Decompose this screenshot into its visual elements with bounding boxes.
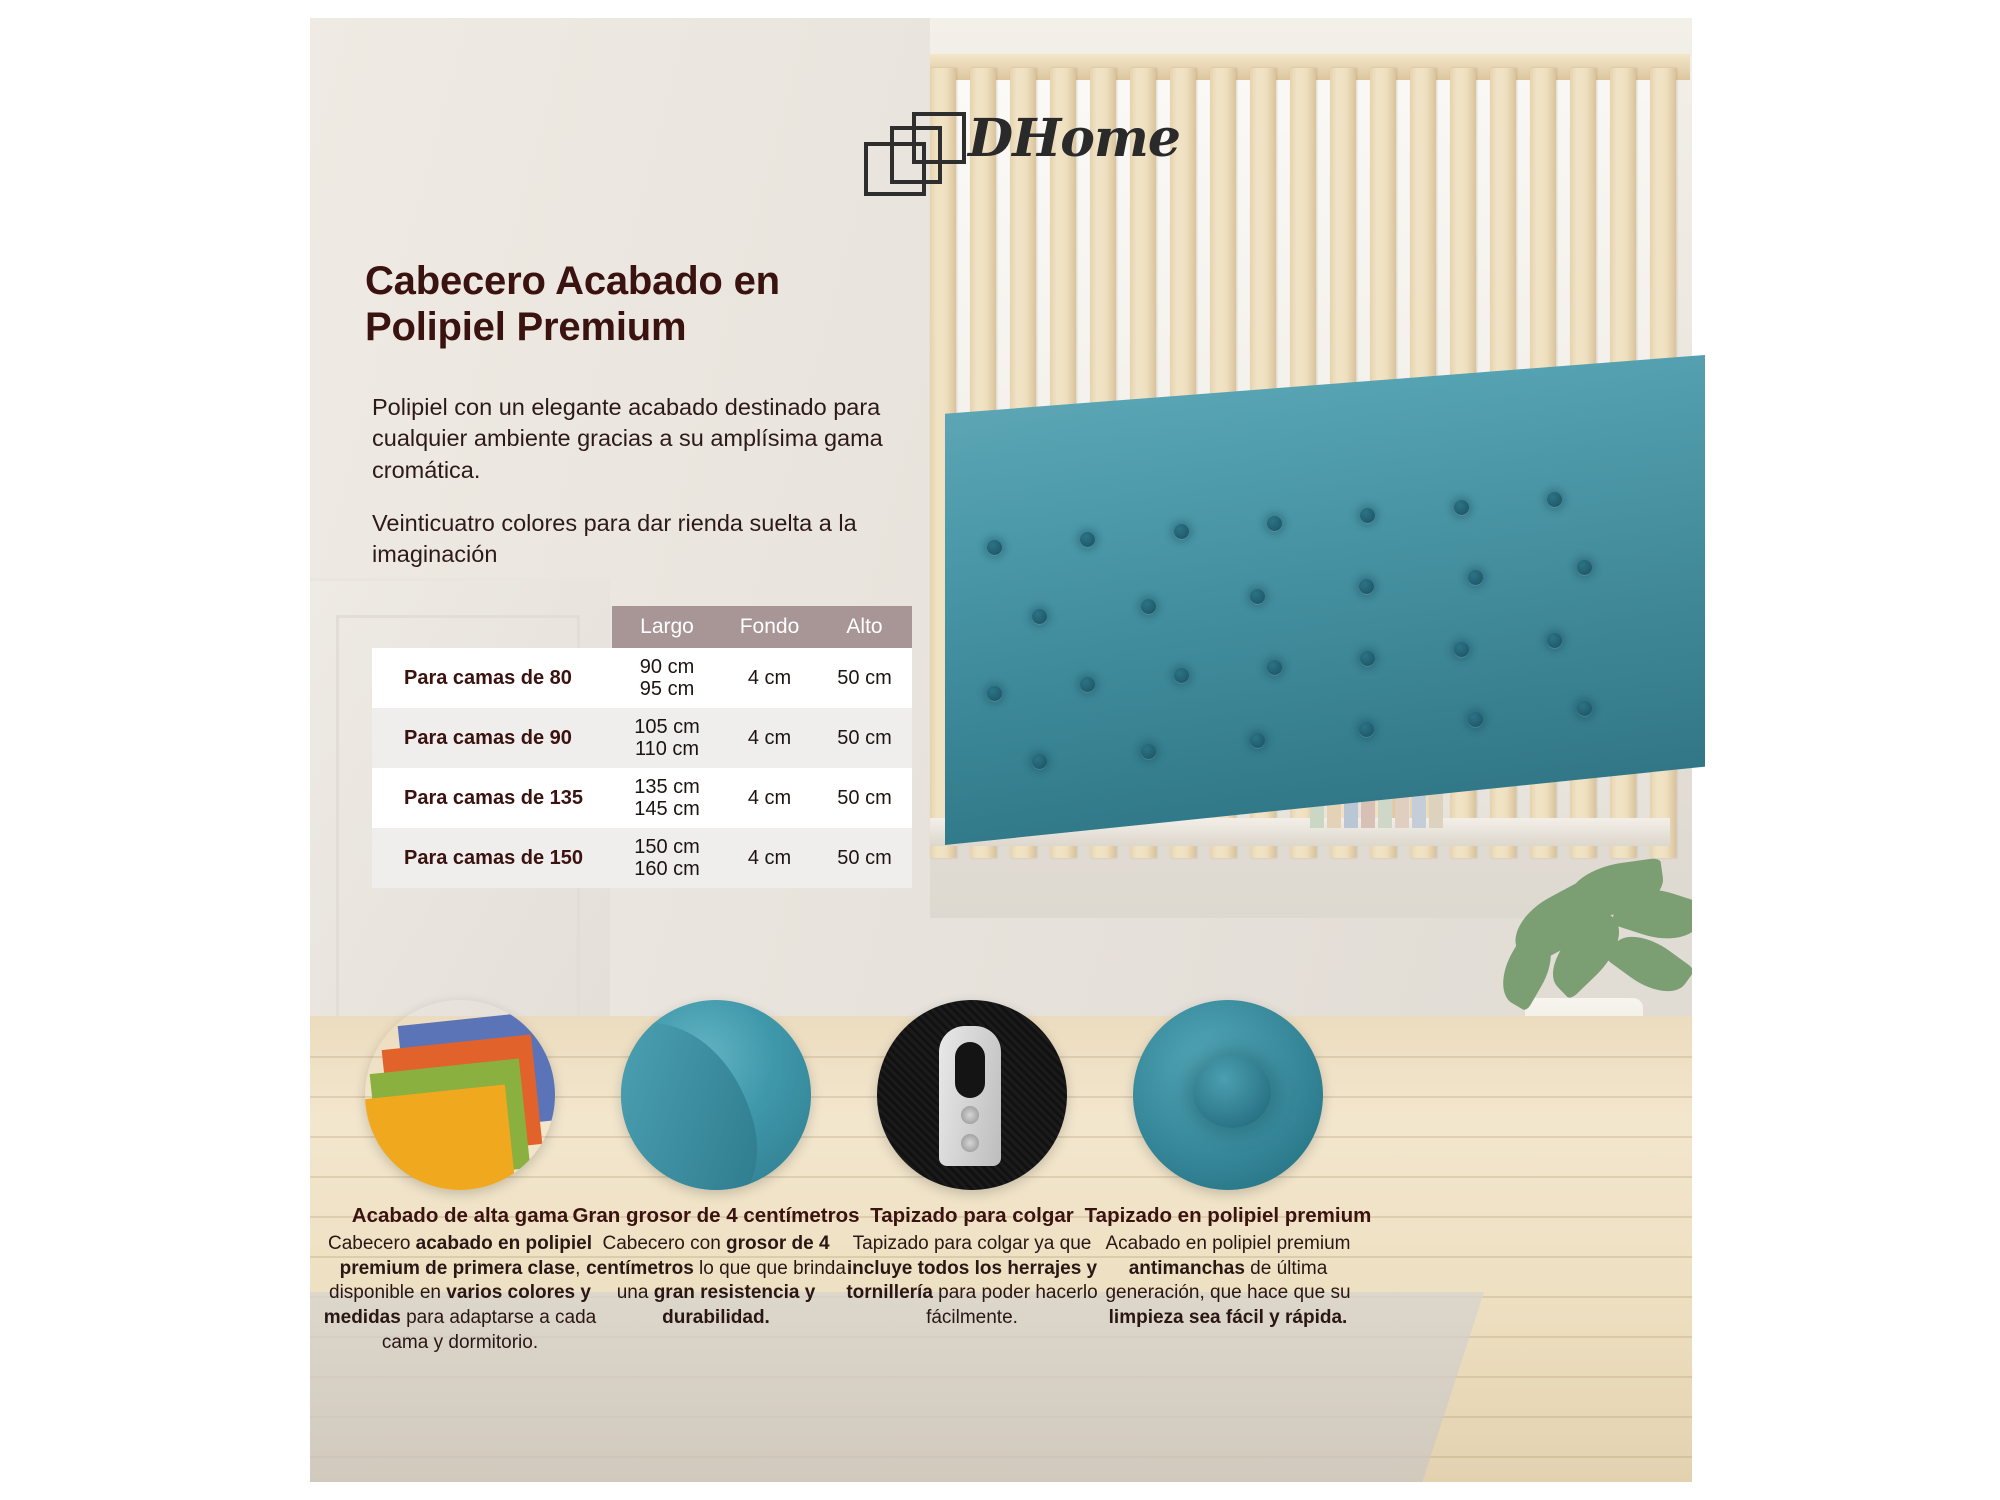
tuft-button [987,540,1002,555]
tuft-button [1454,500,1469,515]
logo-square-3 [912,112,966,164]
product-headboard-image [945,355,1705,845]
tuft-button [1454,642,1469,657]
table-row: Para camas de 135135 cm145 cm4 cm50 cm [372,768,912,828]
feature-body-4: Acabado en polipiel premium antimanchas … [1078,1232,1378,1331]
cell-fondo: 4 cm [722,727,817,750]
row-label: Para camas de 135 [372,787,612,810]
tuft-button [1577,560,1592,575]
infographic-canvas: DHome Cabecero Acabado en Polipiel Premi… [0,0,2000,1500]
cell-alto: 50 cm [817,727,912,750]
cell-fondo: 4 cm [722,847,817,870]
table-row: Para camas de 90105 cm110 cm4 cm50 cm [372,708,912,768]
tuft-button [1174,524,1189,539]
table-body: Para camas de 8090 cm95 cm4 cm50 cmPara … [372,648,912,888]
headboard-shading [945,355,1705,845]
column-header-alto: Alto [817,615,912,639]
tuft-button [1360,508,1375,523]
feature-card-4: Tapizado en polipiel premium Acabado en … [1078,1000,1378,1331]
row-label: Para camas de 80 [372,667,612,690]
feature-title-4: Tapizado en polipiel premium [1078,1204,1378,1228]
product-description: Polipiel con un elegante acabado destina… [372,392,917,592]
cell-alto: 50 cm [817,847,912,870]
table-row: Para camas de 8090 cm95 cm4 cm50 cm [372,648,912,708]
swatch-yellow [365,1084,516,1190]
description-paragraph-1: Polipiel con un elegante acabado destina… [372,392,917,486]
brand-logo: DHome [860,108,1170,186]
thickness-fold-icon [621,1000,811,1190]
dimensions-table: Largo Fondo Alto Para camas de 8090 cm95… [372,606,912,888]
bracket-keyhole [955,1042,985,1098]
table-row: Para camas de 150150 cm160 cm4 cm50 cm [372,828,912,888]
cell-largo: 105 cm110 cm [612,716,722,761]
tufted-button-icon [1133,1000,1323,1190]
tuft-button [1360,651,1375,666]
screw-top [961,1106,979,1124]
feature-card-3: Tapizado para colgar Tapizado para colga… [822,1000,1122,1331]
cell-largo: 135 cm145 cm [612,776,722,821]
feature-title-3: Tapizado para colgar [822,1204,1122,1228]
cell-fondo: 4 cm [722,787,817,810]
tuft-button [1174,668,1189,683]
tuft-button [1032,609,1047,624]
table-header-row: Largo Fondo Alto [612,606,912,648]
cell-largo: 150 cm160 cm [612,836,722,881]
page-title: Cabecero Acabado en Polipiel Premium [365,258,885,350]
cell-alto: 50 cm [817,667,912,690]
premium-tuft-button [1193,1056,1271,1128]
screw-bottom [961,1134,979,1152]
feature-body-3: Tapizado para colgar ya que incluye todo… [822,1232,1122,1331]
feature-body-1: Cabecero acabado en polipiel premium de … [310,1232,610,1355]
tuft-button [1267,516,1282,531]
feature-card-1: Acabado de alta gama Cabecero acabado en… [310,1000,610,1355]
cell-alto: 50 cm [817,787,912,810]
row-label: Para camas de 150 [372,847,612,870]
logo-wordmark: DHome [968,108,1180,169]
description-paragraph-2: Veinticuatro colores para dar rienda sue… [372,508,917,571]
cell-largo: 90 cm95 cm [612,656,722,701]
wall-bracket-icon [877,1000,1067,1190]
tuft-button [987,686,1002,701]
feature-title-1: Acabado de alta gama [310,1204,610,1228]
tuft-button [1080,532,1095,547]
column-header-largo: Largo [612,615,722,639]
row-label: Para camas de 90 [372,727,612,750]
column-header-fondo: Fondo [722,615,817,639]
metal-bracket [939,1026,1001,1166]
feature-body-2: Cabecero con grosor de 4 centímetros lo … [566,1232,866,1331]
tuft-button [1468,712,1483,727]
color-swatches-icon [365,1000,555,1190]
tuft-button [1547,492,1562,507]
tuft-button [1267,660,1282,675]
cell-fondo: 4 cm [722,667,817,690]
tuft-button [1468,570,1483,585]
feature-title-2: Gran grosor de 4 centímetros [566,1204,866,1228]
feature-card-2: Gran grosor de 4 centímetros Cabecero co… [566,1000,866,1331]
tuft-button [1577,701,1592,716]
